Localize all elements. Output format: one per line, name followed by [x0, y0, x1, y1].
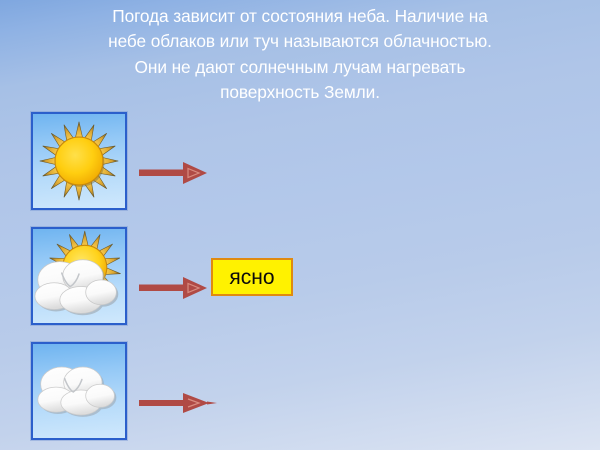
- weather-row: пасмурно: [0, 340, 600, 444]
- weather-row: переменная облачность: [0, 225, 600, 329]
- sun-icon-art: [33, 114, 125, 208]
- arrow-right-icon: [139, 273, 207, 303]
- sun-icon: [31, 112, 127, 210]
- weather-row: ясно: [0, 110, 600, 214]
- sun-behind-cloud-icon-art: [33, 229, 125, 323]
- arrow-right-icon: [139, 158, 207, 188]
- slide-canvas: Погода зависит от состояния неба. Наличи…: [0, 0, 600, 450]
- arrow-right-icon: [139, 388, 217, 418]
- cloud-icon: [31, 342, 127, 440]
- sun-behind-cloud-icon: [31, 227, 127, 325]
- page-title: Погода зависит от состояния неба. Наличи…: [18, 4, 582, 105]
- cloud-icon-art: [33, 344, 125, 438]
